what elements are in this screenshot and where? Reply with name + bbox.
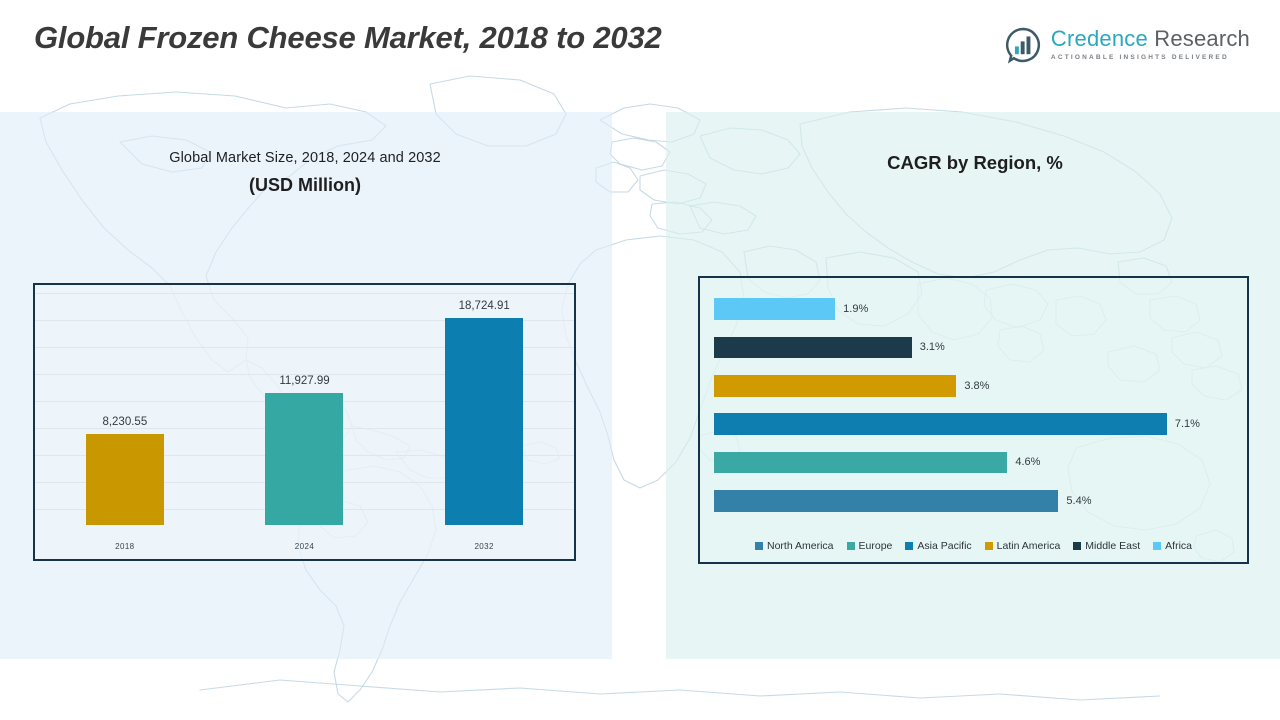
bar-2032[interactable] (445, 318, 523, 525)
left-chart-heading-line-1: Global Market Size, 2018, 2024 and 2032 (30, 150, 580, 166)
bar-row-latin-america: 3.8% (714, 375, 1237, 396)
legend-item-latin-america[interactable]: Latin America (985, 540, 1061, 552)
brand-logo[interactable]: Credence Research Actionable Insights De… (1004, 22, 1250, 68)
legend-label: Middle East (1085, 540, 1140, 552)
left-chart-heading-line-2: (USD Million) (30, 175, 580, 196)
bar-value-label: 18,724.91 (459, 300, 510, 312)
legend-label: Europe (859, 540, 893, 552)
bar-group: 8,230.552018 (35, 293, 215, 525)
bar-2024[interactable] (265, 393, 343, 525)
logo-tagline: Actionable Insights Delivered (1051, 55, 1250, 62)
legend-label: Asia Pacific (917, 540, 971, 552)
legend-item-north-america[interactable]: North America (755, 540, 834, 552)
page-title: Global Frozen Cheese Market, 2018 to 203… (34, 20, 662, 56)
market-size-bar-chart: 8,230.55201811,927.99202418,724.912032 (33, 283, 576, 561)
bar-latin-america[interactable] (714, 375, 956, 396)
legend-item-middle-east[interactable]: Middle East (1073, 540, 1140, 552)
bar-row-middle-east: 3.1% (714, 337, 1237, 358)
bar-asia-pacific[interactable] (714, 413, 1167, 434)
left-chart-heading: Global Market Size, 2018, 2024 and 2032 … (30, 150, 580, 196)
bar-row-europe: 4.6% (714, 452, 1237, 473)
legend-swatch-icon (905, 542, 913, 550)
horizontal-bar-plot-area: 1.9%3.1%3.8%7.1%4.6%5.4% (714, 290, 1237, 520)
category-label: 2018 (115, 542, 134, 551)
legend-swatch-icon (1073, 542, 1081, 550)
logo-word-credence: Credence (1051, 26, 1148, 51)
bar-row-north-america: 5.4% (714, 490, 1237, 511)
legend-swatch-icon (1153, 542, 1161, 550)
bar-value-label: 7.1% (1175, 418, 1200, 430)
legend-label: North America (767, 540, 834, 552)
right-chart-heading-line-1: CAGR by Region, % (700, 152, 1250, 174)
legend-item-africa[interactable]: Africa (1153, 540, 1192, 552)
credence-bar-chart-bubble-logo-icon (1004, 26, 1042, 64)
legend-swatch-icon (847, 542, 855, 550)
chart-legend: North AmericaEuropeAsia PacificLatin Ame… (700, 540, 1247, 552)
logo-wordmark: Credence Research (1051, 28, 1250, 50)
bar-value-label: 11,927.99 (279, 375, 329, 387)
bar-row-asia-pacific: 7.1% (714, 413, 1237, 434)
bar-europe[interactable] (714, 452, 1007, 473)
bar-2018[interactable] (86, 434, 164, 525)
legend-item-europe[interactable]: Europe (847, 540, 893, 552)
legend-swatch-icon (985, 542, 993, 550)
right-chart-heading: CAGR by Region, % (700, 152, 1250, 174)
cagr-by-region-bar-chart: 1.9%3.1%3.8%7.1%4.6%5.4% North AmericaEu… (698, 276, 1249, 564)
category-label: 2032 (474, 542, 493, 551)
bar-row-africa: 1.9% (714, 298, 1237, 319)
bar-value-label: 3.8% (964, 380, 989, 392)
bar-group: 18,724.912032 (394, 293, 574, 525)
bar-value-label: 3.1% (920, 341, 945, 353)
bar-group: 11,927.992024 (215, 293, 395, 525)
category-label: 2024 (295, 542, 314, 551)
legend-swatch-icon (755, 542, 763, 550)
header: Global Frozen Cheese Market, 2018 to 203… (0, 0, 1280, 88)
bar-value-label: 4.6% (1015, 456, 1040, 468)
bar-middle-east[interactable] (714, 337, 912, 358)
bar-value-label: 1.9% (843, 303, 868, 315)
legend-label: Africa (1165, 540, 1192, 552)
logo-word-research: Research (1154, 26, 1250, 51)
bar-value-label: 8,230.55 (102, 416, 147, 428)
bar-north-america[interactable] (714, 490, 1058, 511)
vertical-bar-plot-area: 8,230.55201811,927.99202418,724.912032 (35, 293, 574, 525)
legend-item-asia-pacific[interactable]: Asia Pacific (905, 540, 971, 552)
logo-text: Credence Research Actionable Insights De… (1051, 28, 1250, 62)
bar-value-label: 5.4% (1066, 495, 1091, 507)
bar-africa[interactable] (714, 298, 835, 319)
legend-label: Latin America (997, 540, 1061, 552)
